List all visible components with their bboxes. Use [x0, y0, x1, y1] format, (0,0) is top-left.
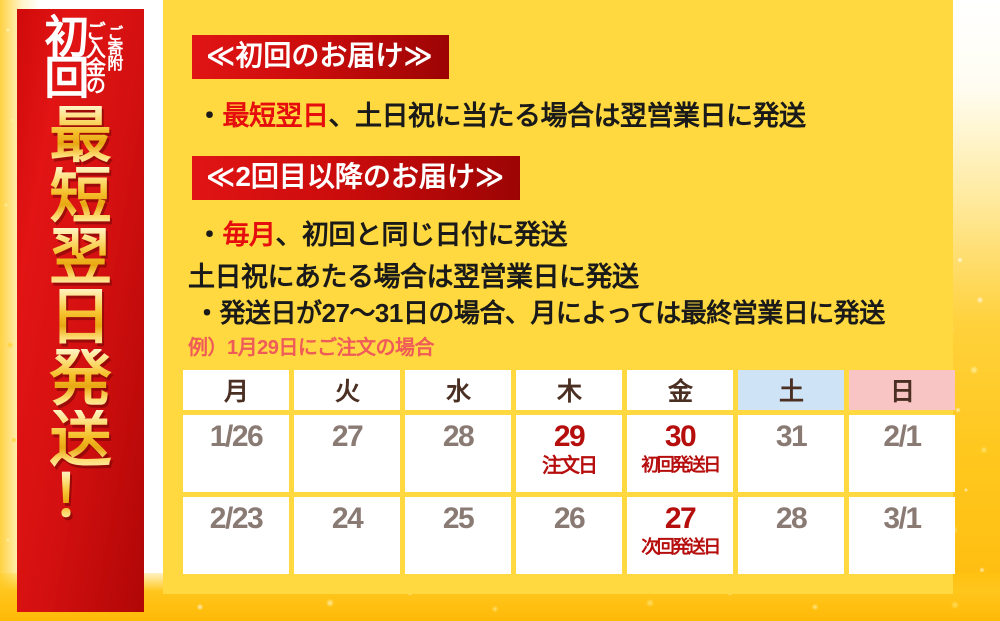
banner-subtitle-group: 初回 ご入金の ご寄附	[17, 9, 144, 104]
banner-headline: 最 短 翌 日 発 送 ！	[17, 104, 144, 604]
calendar-day-number: 3/1	[883, 503, 920, 535]
banner-first-time-label: 初回	[41, 13, 84, 105]
calendar-weekday-header-1: 火	[294, 370, 400, 410]
headline-char-6: 送	[49, 410, 111, 471]
calendar-day-cell: 1/26	[183, 415, 289, 492]
calendar-day-cell: 28	[738, 497, 844, 574]
calendar-day-number: 31	[776, 421, 806, 453]
shipping-calendar: 月火水木金土日 1/26272829注文日30初回発送日312/1 2/2324…	[183, 370, 961, 574]
bullet-marker: ・	[196, 101, 223, 131]
bullet-text: 、初回と同じ日付に発送	[276, 220, 568, 250]
recurring-bullet-weekend: 土日祝にあたる場合は翌営業日に発送	[188, 264, 639, 291]
headline-char-5: 発	[49, 349, 111, 410]
calendar-day-note: 注文日	[542, 456, 596, 476]
first-delivery-bullet: ・最短翌日、土日祝に当たる場合は翌営業日に発送	[196, 103, 806, 130]
calendar-weekday-header-6: 日	[849, 370, 955, 410]
calendar-day-number: 30	[665, 421, 695, 453]
recurring-bullet-monthly: ・毎月、初回と同じ日付に発送	[196, 222, 567, 249]
headline-exclamation: ！	[51, 471, 109, 523]
calendar-day-note: 初回発送日	[641, 456, 719, 474]
headline-char-1: 最	[49, 106, 111, 167]
calendar-day-number: 29	[554, 421, 584, 453]
calendar-weekday-header-4: 金	[627, 370, 733, 410]
calendar-day-cell: 29注文日	[516, 415, 622, 492]
section-heading-first-delivery: ≪初回のお届け≫	[192, 35, 449, 79]
calendar-weekday-header-5: 土	[738, 370, 844, 410]
calendar-day-cell: 24	[294, 497, 400, 574]
calendar-day-cell: 27次回発送日	[627, 497, 733, 574]
calendar-day-cell: 26	[516, 497, 622, 574]
calendar-day-number: 26	[554, 503, 584, 535]
calendar-day-cell: 28	[405, 415, 511, 492]
bullet-marker: ・	[196, 220, 223, 250]
calendar-day-number: 28	[443, 421, 473, 453]
example-caption: 例）1月29日にご注文の場合	[188, 338, 434, 358]
calendar-weekday-header-2: 水	[405, 370, 511, 410]
bullet-highlight-shortest-next-day: 最短翌日	[223, 101, 329, 131]
calendar-weekday-header-3: 木	[516, 370, 622, 410]
recurring-bullet-month-end: ・発送日が27〜31日の場合、月によっては最終営業日に発送	[194, 300, 885, 326]
calendar-day-note: 次回発送日	[641, 538, 719, 556]
calendar-day-cell: 27	[294, 415, 400, 492]
poster-canvas: 初回 ご入金の ご寄附 最 短 翌 日 発 送 ！ ≪初回のお届け≫ ・最短翌日…	[0, 0, 1000, 621]
headline-char-3: 翌	[49, 228, 111, 289]
headline-char-2: 短	[49, 167, 111, 228]
calendar-weekday-header-0: 月	[183, 370, 289, 410]
calendar-day-cell: 3/1	[849, 497, 955, 574]
calendar-day-cell: 2/23	[183, 497, 289, 574]
calendar-day-number: 24	[332, 503, 362, 535]
bullet-highlight-monthly: 毎月	[223, 220, 276, 250]
calendar-day-number: 28	[776, 503, 806, 535]
calendar-week-row-1: 1/26272829注文日30初回発送日312/1	[183, 415, 961, 492]
main-content: ≪初回のお届け≫ ・最短翌日、土日祝に当たる場合は翌営業日に発送 ≪2回目以降の…	[183, 0, 963, 594]
calendar-day-number: 27	[332, 421, 362, 453]
headline-char-4: 日	[49, 288, 111, 349]
banner-donation-label: ご寄附	[104, 25, 120, 70]
calendar-day-number: 25	[443, 503, 473, 535]
calendar-week-row-2: 2/2324252627次回発送日283/1	[183, 497, 961, 574]
calendar-day-cell: 31	[738, 415, 844, 492]
banner-payment-label: ご入金の	[83, 21, 103, 93]
bullet-text: 、土日祝に当たる場合は翌営業日に発送	[329, 101, 806, 131]
calendar-day-cell: 2/1	[849, 415, 955, 492]
section-heading-recurring-delivery: ≪2回目以降のお届け≫	[192, 156, 520, 200]
calendar-header-row: 月火水木金土日	[183, 370, 961, 410]
promo-banner: 初回 ご入金の ご寄附 最 短 翌 日 発 送 ！	[17, 9, 144, 612]
calendar-day-number: 2/1	[883, 421, 920, 453]
calendar-day-cell: 25	[405, 497, 511, 574]
calendar-day-cell: 30初回発送日	[627, 415, 733, 492]
calendar-day-number: 1/26	[210, 421, 262, 453]
calendar-day-number: 27	[665, 503, 695, 535]
calendar-day-number: 2/23	[210, 503, 262, 535]
